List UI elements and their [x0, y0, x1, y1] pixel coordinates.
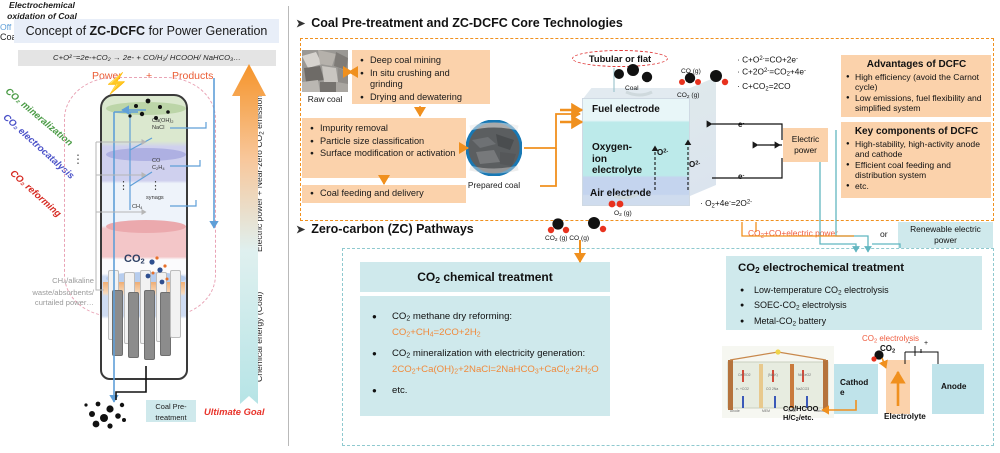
figure-root: Concept of ZC-DCFC for Power Generation …	[0, 0, 1000, 453]
svg-text:Anode: Anode	[730, 409, 740, 413]
reactor-layer-blue	[106, 148, 186, 161]
ultimate-goal-label: Ultimate Goal	[204, 406, 264, 417]
oxide-ion-label-1: O2-	[657, 148, 668, 157]
co2-gas-label: CO2 (g)	[677, 92, 699, 100]
key-component-item: Efficient coal feeding and distribution …	[846, 160, 987, 181]
chemical-treatment-item: etc.	[370, 384, 602, 397]
electrolysis-electrolyte-membrane	[886, 360, 910, 414]
feeding-step-box: Coal feeding and delivery	[302, 185, 466, 203]
raw-coal-caption: Raw coal	[299, 94, 351, 104]
chemical-treatment-list: CO2 methane dry reforming: CO2+CH4=2CO+2…	[360, 296, 610, 416]
svg-text:Ce/TiO2: Ce/TiO2	[738, 373, 751, 377]
air-electrode-label: Air electrode	[590, 188, 651, 199]
advantages-box: Advantages of DCFC High efficiency (avoi…	[841, 55, 991, 117]
electrochemical-treatment-title: CO2 electrochemical treatment	[726, 256, 982, 280]
cathode-label: Cathode	[840, 378, 868, 398]
connector-label-or: or	[880, 229, 888, 239]
echem-item: Metal-CO2 battery	[740, 315, 976, 330]
bullet-arrow-icon: ➤	[296, 18, 305, 30]
chemical-treatment-item: CO2 mineralization with electricity gene…	[370, 347, 602, 378]
reactor-layer-green	[106, 102, 186, 115]
reactor-label-co: COC2H4	[152, 158, 165, 172]
fuel-electrode-label: Fuel electrode	[592, 104, 660, 115]
cathode-reaction: · O2+4e-=2O2-	[700, 198, 752, 209]
chemical-treatment-title: CO2 chemical treatment	[360, 262, 610, 292]
lightning-bolt-icon: ⚡	[104, 74, 120, 96]
oxide-ion-label-2: O2-	[689, 160, 700, 169]
electron-label-top: e-	[738, 120, 744, 129]
o2-gas-label: O2 (g)	[614, 210, 632, 218]
title-prefix: Concept of	[26, 24, 90, 38]
raw-coal-image	[302, 50, 348, 92]
impurity-step: Particle size classification	[310, 136, 460, 148]
left-concept-panel: Concept of ZC-DCFC for Power Generation …	[0, 0, 288, 453]
co2-inlet-label: CO2	[880, 344, 895, 354]
bullet-arrow-icon-2: ➤	[296, 224, 305, 236]
prepared-coal-caption: Prepared coal	[462, 180, 526, 190]
key-component-item: High-stability, high-activity anode and …	[846, 139, 987, 160]
key-components-title: Key components of DCFC	[846, 126, 987, 137]
tubular-or-flat-label: Tubular or flat	[572, 50, 668, 67]
co2-electrolysis-caption: CO2 electrolysis	[862, 334, 919, 344]
electrolyte-label: Electrolyte	[884, 412, 926, 421]
feed-note: CH4/alkalinewaste/absorbents/curtailed p…	[6, 276, 94, 308]
electron-label-bottom: e-	[738, 172, 744, 181]
svg-text:Ni/CeO2: Ni/CeO2	[798, 373, 811, 377]
key-component-item: etc.	[846, 181, 987, 191]
reactor-label-caoh: Ca(OH)2NaCl	[152, 118, 174, 132]
heading-coal-pretreatment: ➤Coal Pre-treatment and ZC-DCFC Core Tec…	[296, 16, 623, 30]
heading-zero-carbon: ➤Zero-carbon (ZC) Pathways	[296, 222, 474, 236]
coal-rod-bundle	[106, 270, 184, 366]
svg-text:(Na,K): (Na,K)	[768, 373, 778, 377]
impurity-step: Impurity removal	[310, 123, 460, 135]
svg-text:e- +CO2: e- +CO2	[736, 387, 749, 391]
title-suffix: for Power Generation	[145, 24, 267, 38]
advantages-title: Advantages of DCFC	[846, 59, 987, 70]
mining-step: In situ crushing and grinding	[360, 68, 484, 91]
renewable-power-box: Renewable electric power	[898, 222, 993, 248]
advantage-item: High efficiency (avoid the Carnot cycle)	[846, 72, 987, 93]
svg-text:CO 2Na: CO 2Na	[766, 387, 778, 391]
item-text: CO2 methane dry reforming:	[392, 311, 512, 322]
item-text: etc.	[392, 385, 407, 396]
heading-zc-text: Zero-carbon (ZC) Pathways	[311, 222, 474, 236]
key-components-box: Key components of DCFC High-stability, h…	[841, 122, 991, 198]
arrow-label-electric-power: Electric power + Near-zero CO2 emission	[254, 95, 265, 252]
mining-step: Drying and dewatering	[360, 92, 484, 104]
svg-text:MEM: MEM	[762, 409, 770, 413]
impurity-step: Surface modification or activation	[310, 148, 460, 160]
electrochemical-treatment-list: Low-temperature CO2 electrolysis SOEC-CO…	[726, 280, 982, 330]
anode-reaction: · C+2O2-=CO2+4e-	[737, 66, 806, 81]
echem-item: SOEC-CO2 electrolysis	[740, 299, 976, 314]
advantage-item: Low emissions, fuel flexibility and simp…	[846, 93, 987, 114]
electrolyte-label: Oxygen-ionelectrolyte	[592, 142, 650, 177]
prepared-coal-image	[466, 120, 522, 176]
reactor-layer-red	[106, 220, 186, 233]
co2-co-gas-label: CO2 (g) CO (g)	[545, 235, 589, 243]
reactor-ellipsis-right-icon: ⋮	[150, 184, 161, 188]
heading-coal-text: Coal Pre-treatment and ZC-DCFC Core Tech…	[311, 16, 623, 30]
reactor-ellipsis-left-icon: ⋮	[118, 184, 129, 188]
feeding-step: Coal feeding and delivery	[310, 188, 460, 200]
mining-step: Deep coal mining	[360, 55, 484, 67]
coal-pretreatment-chip: Coal Pre-treatment	[146, 400, 196, 422]
item-equation: CO2+CH4=2CO+2H2	[392, 326, 602, 342]
title-bold: ZC-DCFC	[90, 24, 146, 38]
mining-steps-box: Deep coal mining In situ crushing and gr…	[352, 50, 490, 104]
item-text: CO2 mineralization with electricity gene…	[392, 348, 585, 359]
anode-label: Anode	[941, 382, 966, 391]
connector-label-co2-co-power: CO2+CO+electric power	[748, 228, 838, 239]
electrolysis-products-label: CO/HCOOH/C2/etc.	[783, 405, 818, 424]
arrow-label-chemical-energy: Chemical energy (Coal)	[254, 292, 264, 382]
svg-text:Na2CO3: Na2CO3	[796, 387, 809, 391]
energy-conversion-arrow: Chemical energy (Coal) Electric power + …	[236, 64, 262, 404]
chemical-treatment-item: CO2 methane dry reforming: CO2+CH4=2CO+2…	[370, 310, 602, 341]
impurity-steps-box: Impurity removal Particle size classific…	[302, 118, 466, 178]
coal-molecule-label: Coal	[625, 85, 639, 92]
anode-reaction: · C+CO2=2CO	[737, 81, 806, 96]
anode-reactions-list: · C+O2-=CO+2e- · C+2O2-=CO2+4e- · C+CO2=…	[737, 54, 806, 96]
key-components-list: High-stability, high-activity anode and …	[846, 139, 987, 191]
advantages-list: High efficiency (avoid the Carnot cycle)…	[846, 72, 987, 114]
anode-reaction: · C+O2-=CO+2e-	[737, 54, 806, 66]
echem-item: Low-temperature CO2 electrolysis	[740, 284, 976, 299]
left-panel-title: Concept of ZC-DCFC for Power Generation	[14, 19, 279, 43]
reactor-label-syngas: synags	[146, 195, 164, 202]
reactor-label-co2: CO2	[124, 253, 145, 266]
panel-divider	[288, 6, 289, 446]
pathway-label-reforming: CO₂ reforming	[8, 168, 64, 220]
reactor-label-ch4: CH4	[132, 204, 142, 211]
electric-power-box: Electric power	[783, 128, 828, 162]
item-equation: 2CO2+Ca(OH)2+2NaCl=2NaHCO3+CaCl2+2H2O	[392, 363, 602, 379]
co-gas-label: CO (g)	[681, 68, 701, 75]
